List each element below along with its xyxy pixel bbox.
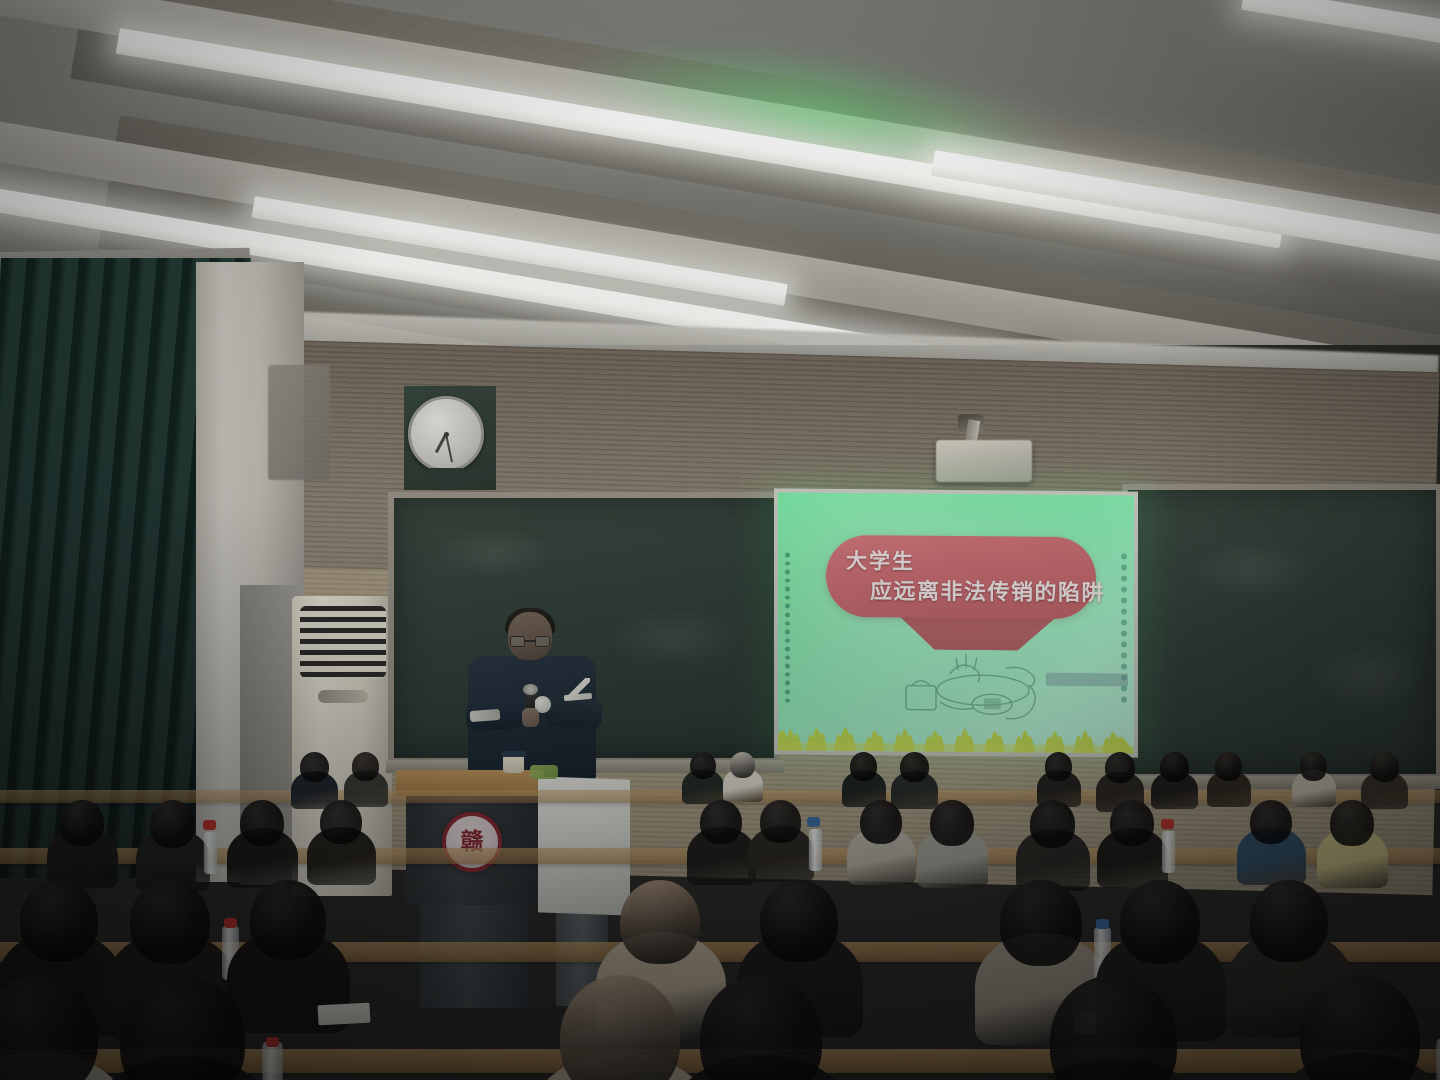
bottle-cap bbox=[1096, 919, 1109, 929]
glasses-icon bbox=[510, 636, 550, 647]
student-head bbox=[1120, 880, 1200, 964]
student-head bbox=[352, 752, 379, 781]
student-head bbox=[1215, 752, 1242, 781]
student-head bbox=[700, 800, 742, 844]
student-head bbox=[760, 880, 838, 962]
water-bottle bbox=[1162, 831, 1175, 873]
student-head bbox=[1045, 752, 1072, 781]
student-head bbox=[730, 752, 755, 778]
microphone-head-icon bbox=[523, 684, 538, 695]
student-head bbox=[1110, 800, 1154, 846]
student-head bbox=[860, 800, 902, 844]
ceiling-projector-icon bbox=[936, 440, 1032, 482]
student-head bbox=[930, 800, 974, 846]
student-head bbox=[60, 800, 104, 846]
student-head bbox=[320, 800, 362, 844]
student-head bbox=[1000, 880, 1082, 966]
student-head bbox=[130, 880, 210, 964]
student-head bbox=[1300, 752, 1327, 781]
clock-mount bbox=[428, 468, 464, 480]
student-head bbox=[900, 752, 929, 782]
student-head bbox=[300, 752, 329, 782]
slide-title-line-2: 应远离非法传销的陷阱 bbox=[870, 573, 1105, 607]
bottle-cap bbox=[266, 1037, 279, 1047]
student-head bbox=[150, 800, 195, 848]
student-head bbox=[1105, 752, 1135, 783]
student-head bbox=[620, 880, 700, 964]
student-head bbox=[760, 800, 801, 843]
student-head bbox=[250, 880, 326, 960]
student-head bbox=[1160, 752, 1189, 782]
student-head bbox=[1370, 752, 1399, 782]
water-bottle bbox=[262, 1042, 282, 1080]
water-bottle bbox=[204, 832, 217, 874]
water-bottle bbox=[809, 829, 822, 871]
bottle-cap bbox=[224, 918, 237, 928]
slide-title-line-1: 大学生 bbox=[846, 545, 915, 576]
slide-left-decoration bbox=[782, 552, 792, 702]
clock-minute-hand bbox=[445, 434, 453, 463]
student-head bbox=[690, 752, 716, 779]
wall-speaker-icon bbox=[268, 365, 330, 480]
student-head bbox=[850, 752, 877, 781]
student-head bbox=[1330, 800, 1374, 846]
paper-on-desk bbox=[318, 1002, 371, 1025]
student-head bbox=[1030, 800, 1075, 848]
audience-area bbox=[0, 700, 1440, 1080]
student-head bbox=[20, 880, 98, 962]
student-head bbox=[240, 800, 284, 846]
student-head bbox=[1250, 800, 1292, 844]
bottle-cap bbox=[807, 817, 820, 827]
clock-center-pin bbox=[444, 432, 449, 437]
air-conditioner-vent-icon bbox=[300, 606, 386, 678]
student-head bbox=[1250, 880, 1328, 962]
slide-bar-decoration bbox=[1046, 673, 1128, 687]
bottle-cap bbox=[203, 820, 216, 830]
ceiling-light-tube bbox=[1241, 0, 1440, 64]
water-bottle bbox=[1436, 1039, 1440, 1080]
classroom-photo-scene: 大学生 应远离非法传销的陷阱 bbox=[0, 0, 1440, 1080]
bottle-cap bbox=[1161, 819, 1174, 829]
wall-clock-icon bbox=[408, 396, 484, 472]
